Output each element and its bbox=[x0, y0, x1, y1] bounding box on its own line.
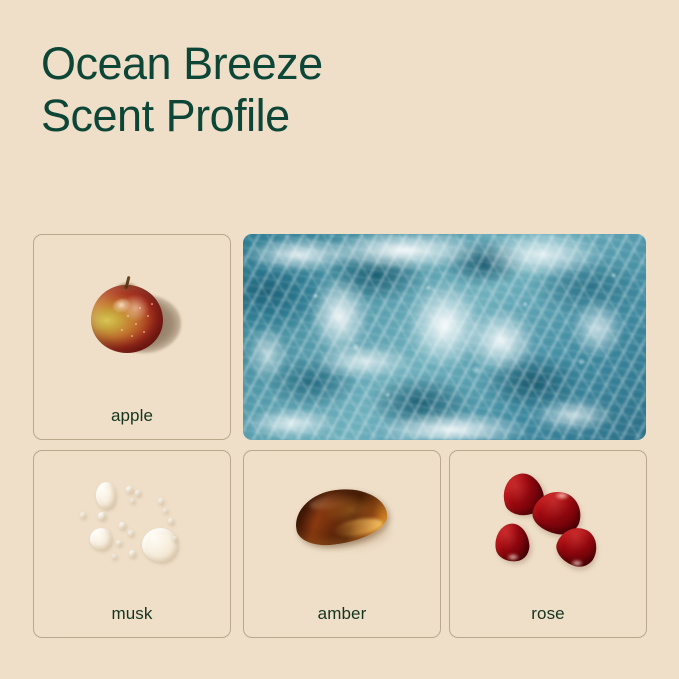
rose-petal-highlight bbox=[571, 560, 583, 567]
note-card-apple[interactable]: apple bbox=[33, 234, 231, 440]
droplet bbox=[168, 518, 174, 524]
apple-speck bbox=[139, 307, 141, 309]
apple-speck bbox=[127, 315, 129, 317]
droplet bbox=[163, 508, 168, 513]
droplet bbox=[90, 528, 112, 550]
rose-petals-illustration bbox=[485, 466, 611, 574]
droplet bbox=[98, 512, 106, 520]
apple-speck bbox=[131, 335, 133, 337]
apple-speck bbox=[147, 315, 149, 317]
droplet bbox=[96, 482, 116, 509]
droplet bbox=[119, 522, 126, 529]
droplet bbox=[129, 550, 136, 557]
droplet bbox=[80, 512, 86, 518]
droplet bbox=[116, 540, 122, 546]
rose-petals-image bbox=[450, 451, 646, 597]
note-label-musk: musk bbox=[34, 604, 230, 624]
amber-illustration bbox=[287, 481, 397, 557]
amber-stone-image bbox=[244, 451, 440, 597]
rose-petal-highlight bbox=[555, 492, 569, 500]
apple-speck bbox=[151, 303, 153, 305]
ocean-foam-bubbles bbox=[243, 234, 646, 440]
droplet bbox=[128, 530, 134, 536]
page-title-line-2: Scent Profile bbox=[41, 90, 601, 142]
note-label-amber: amber bbox=[244, 604, 440, 624]
note-card-amber[interactable]: amber bbox=[243, 450, 441, 638]
page-title: Ocean Breeze Scent Profile bbox=[41, 38, 601, 142]
apple-speck bbox=[143, 331, 145, 333]
droplets-illustration bbox=[72, 474, 192, 574]
droplet bbox=[142, 528, 178, 562]
droplet bbox=[112, 554, 117, 559]
droplet bbox=[135, 490, 141, 496]
note-card-musk[interactable]: musk bbox=[33, 450, 231, 638]
droplet bbox=[126, 486, 133, 493]
apple-speck bbox=[121, 329, 123, 331]
apple-image bbox=[34, 235, 230, 399]
note-label-apple: apple bbox=[34, 406, 230, 426]
droplet bbox=[130, 498, 135, 503]
droplet bbox=[158, 498, 164, 504]
apple-illustration bbox=[77, 263, 187, 363]
page-title-line-1: Ocean Breeze bbox=[41, 38, 601, 90]
apple-speck bbox=[135, 323, 137, 325]
water-droplets-image bbox=[34, 451, 230, 597]
droplet bbox=[172, 536, 177, 541]
ocean-wave-photo bbox=[243, 234, 646, 440]
scent-profile-page: Ocean Breeze Scent Profile apple bbox=[0, 0, 679, 679]
note-label-rose: rose bbox=[450, 604, 646, 624]
note-card-rose[interactable]: rose bbox=[449, 450, 647, 638]
rose-petal-highlight bbox=[507, 554, 519, 561]
apple-body bbox=[91, 285, 163, 353]
